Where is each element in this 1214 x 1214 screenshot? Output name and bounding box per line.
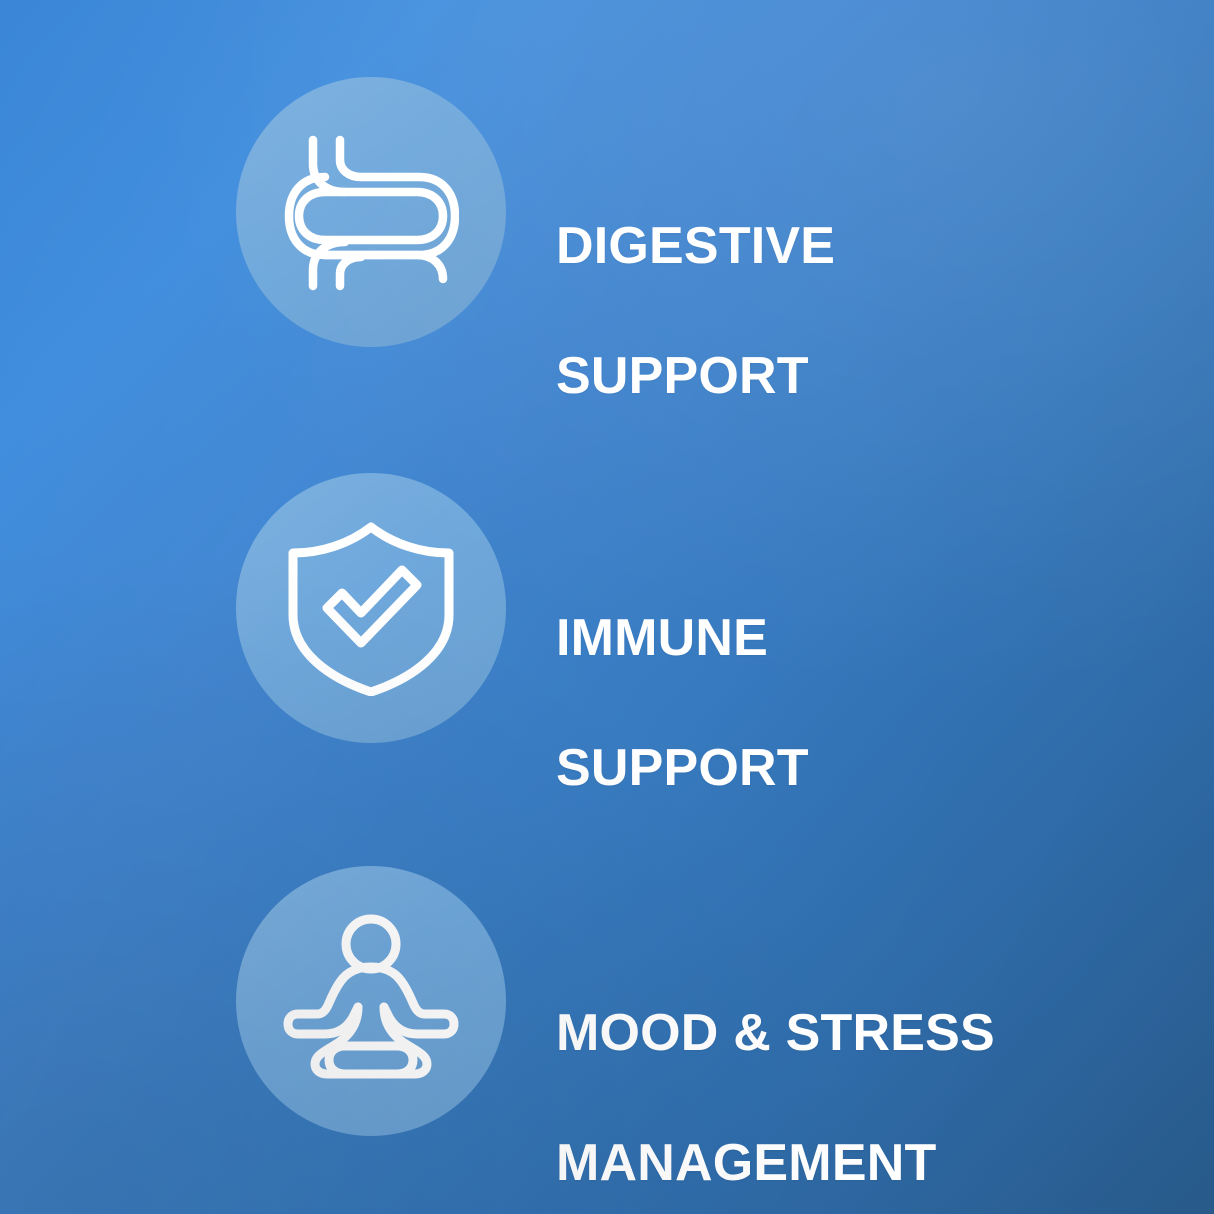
- benefit-row-digestive-support: DIGESTIVE SUPPORT: [0, 77, 1214, 347]
- benefit-row-mood-stress-management: MOOD & STRESS MANAGEMENT: [0, 866, 1214, 1136]
- meditation-icon: [283, 913, 459, 1089]
- shield-check-icon: [283, 520, 459, 696]
- benefit-label-mood-stress-management: MOOD & STRESS MANAGEMENT: [556, 936, 995, 1214]
- benefit-label-line: MOOD & STRESS: [556, 1001, 995, 1066]
- benefit-label-line: IMMUNE: [556, 606, 809, 671]
- intestine-icon: [283, 124, 459, 300]
- benefit-label-line: SUPPORT: [556, 344, 835, 409]
- benefit-label-immune-support: IMMUNE SUPPORT: [556, 541, 809, 866]
- benefit-row-immune-support: IMMUNE SUPPORT: [0, 473, 1214, 743]
- icon-badge-mood: [236, 866, 506, 1136]
- benefit-label-line: SUPPORT: [556, 736, 809, 801]
- icon-badge-digestive: [236, 77, 506, 347]
- benefit-label-digestive-support: DIGESTIVE SUPPORT: [556, 149, 835, 474]
- infographic-canvas: DIGESTIVE SUPPORT IMMUNE SUPPORT: [0, 0, 1214, 1214]
- benefit-label-line: MANAGEMENT: [556, 1131, 995, 1196]
- icon-badge-immune: [236, 473, 506, 743]
- benefit-label-line: DIGESTIVE: [556, 214, 835, 279]
